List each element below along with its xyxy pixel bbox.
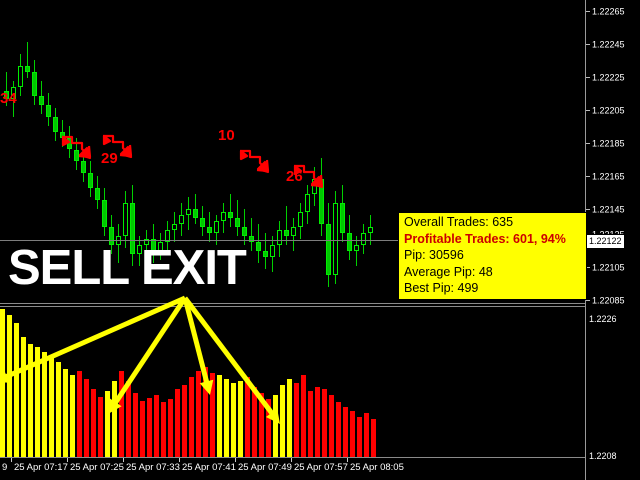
candle-body — [88, 173, 93, 188]
candle-body — [25, 66, 30, 72]
time-axis-label: 25 Apr 07:57 — [294, 462, 348, 474]
price-axis-tick: 1.22105 — [586, 261, 640, 273]
histogram-bar — [35, 347, 40, 457]
histogram-bar — [280, 385, 285, 457]
price-axis-tick: 1.22085 — [586, 294, 640, 306]
candlestick — [368, 0, 374, 305]
candle-body — [361, 233, 366, 245]
candle-body — [256, 242, 261, 251]
candle-body — [235, 218, 240, 227]
histogram-bar — [98, 397, 103, 457]
candle-body — [284, 230, 289, 236]
histogram-bar — [175, 389, 180, 457]
histogram-bar — [322, 389, 327, 457]
histogram-bar — [7, 315, 12, 457]
time-axis-label: 25 Apr 07:49 — [238, 462, 292, 474]
histogram-bar — [245, 377, 250, 457]
histogram-bar — [147, 398, 152, 457]
histogram-bar — [91, 389, 96, 457]
candle-body — [305, 194, 310, 212]
candle-body — [326, 224, 331, 275]
candle-body — [263, 251, 268, 257]
subwindow-axis-tick: 1.2226 — [589, 313, 640, 325]
time-axis-tick — [347, 458, 348, 462]
sell-exit-label: SELL EXIT — [8, 243, 246, 293]
candle-body — [340, 203, 345, 233]
price-tick-label: 1.22165 — [592, 172, 625, 182]
time-axis-label: 25 Apr 07:41 — [182, 462, 236, 474]
price-axis-tick: 1.22185 — [586, 137, 640, 149]
candle-body — [354, 245, 359, 251]
candle-body — [193, 209, 198, 218]
statistics-info-box: Overall Trades: 635Profitable Trades: 60… — [398, 212, 587, 300]
candle-body — [228, 212, 233, 218]
time-axis-tick — [67, 458, 68, 462]
chart-window: MARS 10: Bars Signal: Sell Signal, Wait … — [0, 0, 640, 480]
histogram-bar — [259, 393, 264, 457]
candlestick — [291, 0, 297, 305]
candle-body — [18, 66, 23, 87]
time-axis-label: 25 Apr 07:17 — [14, 462, 68, 474]
price-tick-label: 1.22225 — [592, 73, 625, 83]
candle-body — [102, 200, 107, 227]
histogram-bar — [63, 369, 68, 457]
histogram-bar — [42, 352, 47, 457]
histogram-bar — [133, 393, 138, 457]
histogram-bar — [56, 362, 61, 457]
candle-body — [123, 203, 128, 236]
histogram-bar — [21, 337, 26, 457]
histogram-bar — [231, 383, 236, 457]
info-box-row: Pip: 30596 — [399, 247, 586, 264]
info-box-row: Average Pip: 48 — [399, 264, 586, 281]
histogram-bar — [336, 402, 341, 457]
candle-body — [46, 105, 51, 117]
histogram-bar — [70, 375, 75, 457]
histogram-indicator[interactable] — [0, 307, 585, 457]
price-axis-tick: 1.22145 — [586, 203, 640, 215]
price-tick-label: 1.22185 — [592, 139, 625, 149]
time-axis-tick — [235, 458, 236, 462]
histogram-bar — [294, 383, 299, 457]
histogram-bar — [196, 371, 201, 457]
candle-wick — [251, 218, 252, 251]
candle-wick — [230, 194, 231, 227]
histogram-bar — [364, 413, 369, 457]
pane-separator-top — [0, 303, 585, 304]
time-axis-tick — [123, 458, 124, 462]
sell-signal-arrow-icon — [238, 148, 272, 178]
time-axis-label: 25 Apr 08:05 — [350, 462, 404, 474]
histogram-bar — [105, 391, 110, 457]
price-axis-tick: 1.22245 — [586, 38, 640, 50]
histogram-bar — [119, 371, 124, 457]
price-tick-label: 1.22205 — [592, 106, 625, 116]
histogram-bar — [14, 323, 19, 457]
candle-body — [179, 215, 184, 224]
candle-body — [186, 209, 191, 215]
candle-body — [200, 218, 205, 227]
time-axis-label: 9 — [2, 462, 7, 474]
candle-body — [214, 221, 219, 233]
histogram-bar — [210, 373, 215, 457]
histogram-bar — [252, 387, 257, 457]
time-axis[interactable]: 925 Apr 07:1725 Apr 07:2525 Apr 07:3325 … — [0, 458, 585, 480]
candlestick — [333, 0, 339, 305]
candle-body — [368, 227, 373, 233]
histogram-bar — [266, 399, 271, 457]
candle-body — [207, 227, 212, 233]
price-tick-label: 1.22085 — [592, 296, 625, 306]
candle-body — [291, 227, 296, 236]
histogram-bar — [168, 399, 173, 457]
histogram-bar — [315, 387, 320, 457]
candlestick — [277, 0, 283, 305]
histogram-bar — [301, 375, 306, 457]
price-tick-label: 1.22145 — [592, 205, 625, 215]
candlestick — [312, 0, 318, 305]
price-axis-tick: 1.22225 — [586, 71, 640, 83]
histogram-bar — [224, 379, 229, 457]
histogram-bar — [49, 357, 54, 457]
histogram-bar — [84, 379, 89, 457]
candle-body — [277, 230, 282, 245]
histogram-bar — [329, 395, 334, 457]
candle-body — [221, 212, 226, 221]
info-box-row: Best Pip: 499 — [399, 280, 586, 297]
histogram-bar — [0, 309, 5, 457]
candle-body — [347, 233, 352, 251]
price-tick-label: 1.22265 — [592, 7, 625, 17]
info-box-row: Profitable Trades: 601, 94% — [399, 231, 586, 248]
time-axis-label: 25 Apr 07:25 — [70, 462, 124, 474]
time-axis-tick — [291, 458, 292, 462]
price-tick-label: 1.22245 — [592, 40, 625, 50]
signal-number-label: 34 — [0, 90, 17, 107]
histogram-bar — [28, 344, 33, 457]
info-box-row: Overall Trades: 635 — [399, 214, 586, 231]
histogram-bar — [126, 381, 131, 457]
candle-body — [95, 188, 100, 200]
candlestick — [354, 0, 360, 305]
histogram-bar — [350, 411, 355, 457]
histogram-bar — [343, 407, 348, 457]
histogram-bar — [77, 371, 82, 457]
candlestick — [347, 0, 353, 305]
candlestick — [284, 0, 290, 305]
sell-signal-arrow-icon — [60, 134, 94, 164]
signal-number-label: 26 — [286, 168, 303, 185]
time-axis-tick — [11, 458, 12, 462]
price-axis-tick: 1.22205 — [586, 104, 640, 116]
subwindow-axis-tick: 1.2208 — [589, 450, 640, 462]
candle-body — [298, 212, 303, 227]
candle-body — [39, 96, 44, 105]
histogram-bar — [287, 379, 292, 457]
time-axis-tick — [179, 458, 180, 462]
candlestick — [326, 0, 332, 305]
price-axis-tick: 1.22265 — [586, 5, 640, 17]
histogram-bar — [189, 377, 194, 457]
signal-number-label: 10 — [218, 127, 235, 144]
price-axis-tick: 1.22165 — [586, 170, 640, 182]
candlestick — [361, 0, 367, 305]
candle-body — [242, 227, 247, 236]
histogram-bar — [238, 381, 243, 457]
candle-body — [270, 245, 275, 257]
histogram-bar — [308, 391, 313, 457]
histogram-bar — [154, 395, 159, 457]
histogram-bar — [357, 417, 362, 457]
histogram-bar — [140, 401, 145, 457]
price-tick-label: 1.22105 — [592, 263, 625, 273]
histogram-bar — [217, 375, 222, 457]
histogram-bar — [161, 402, 166, 457]
candlestick — [298, 0, 304, 305]
candle-body — [333, 203, 338, 275]
histogram-bar — [371, 419, 376, 457]
histogram-bar — [203, 367, 208, 457]
histogram-bar — [182, 385, 187, 457]
candlestick — [319, 0, 325, 305]
candle-body — [32, 72, 37, 96]
candle-body — [53, 117, 58, 132]
candlestick — [305, 0, 311, 305]
current-price-tag: 1.22122 — [586, 234, 625, 249]
candle-wick — [27, 42, 28, 78]
signal-number-label: 29 — [101, 150, 118, 167]
time-axis-label: 25 Apr 07:33 — [126, 462, 180, 474]
histogram-bar — [273, 395, 278, 457]
candle-body — [172, 224, 177, 230]
histogram-bar — [112, 381, 117, 457]
candlestick — [340, 0, 346, 305]
